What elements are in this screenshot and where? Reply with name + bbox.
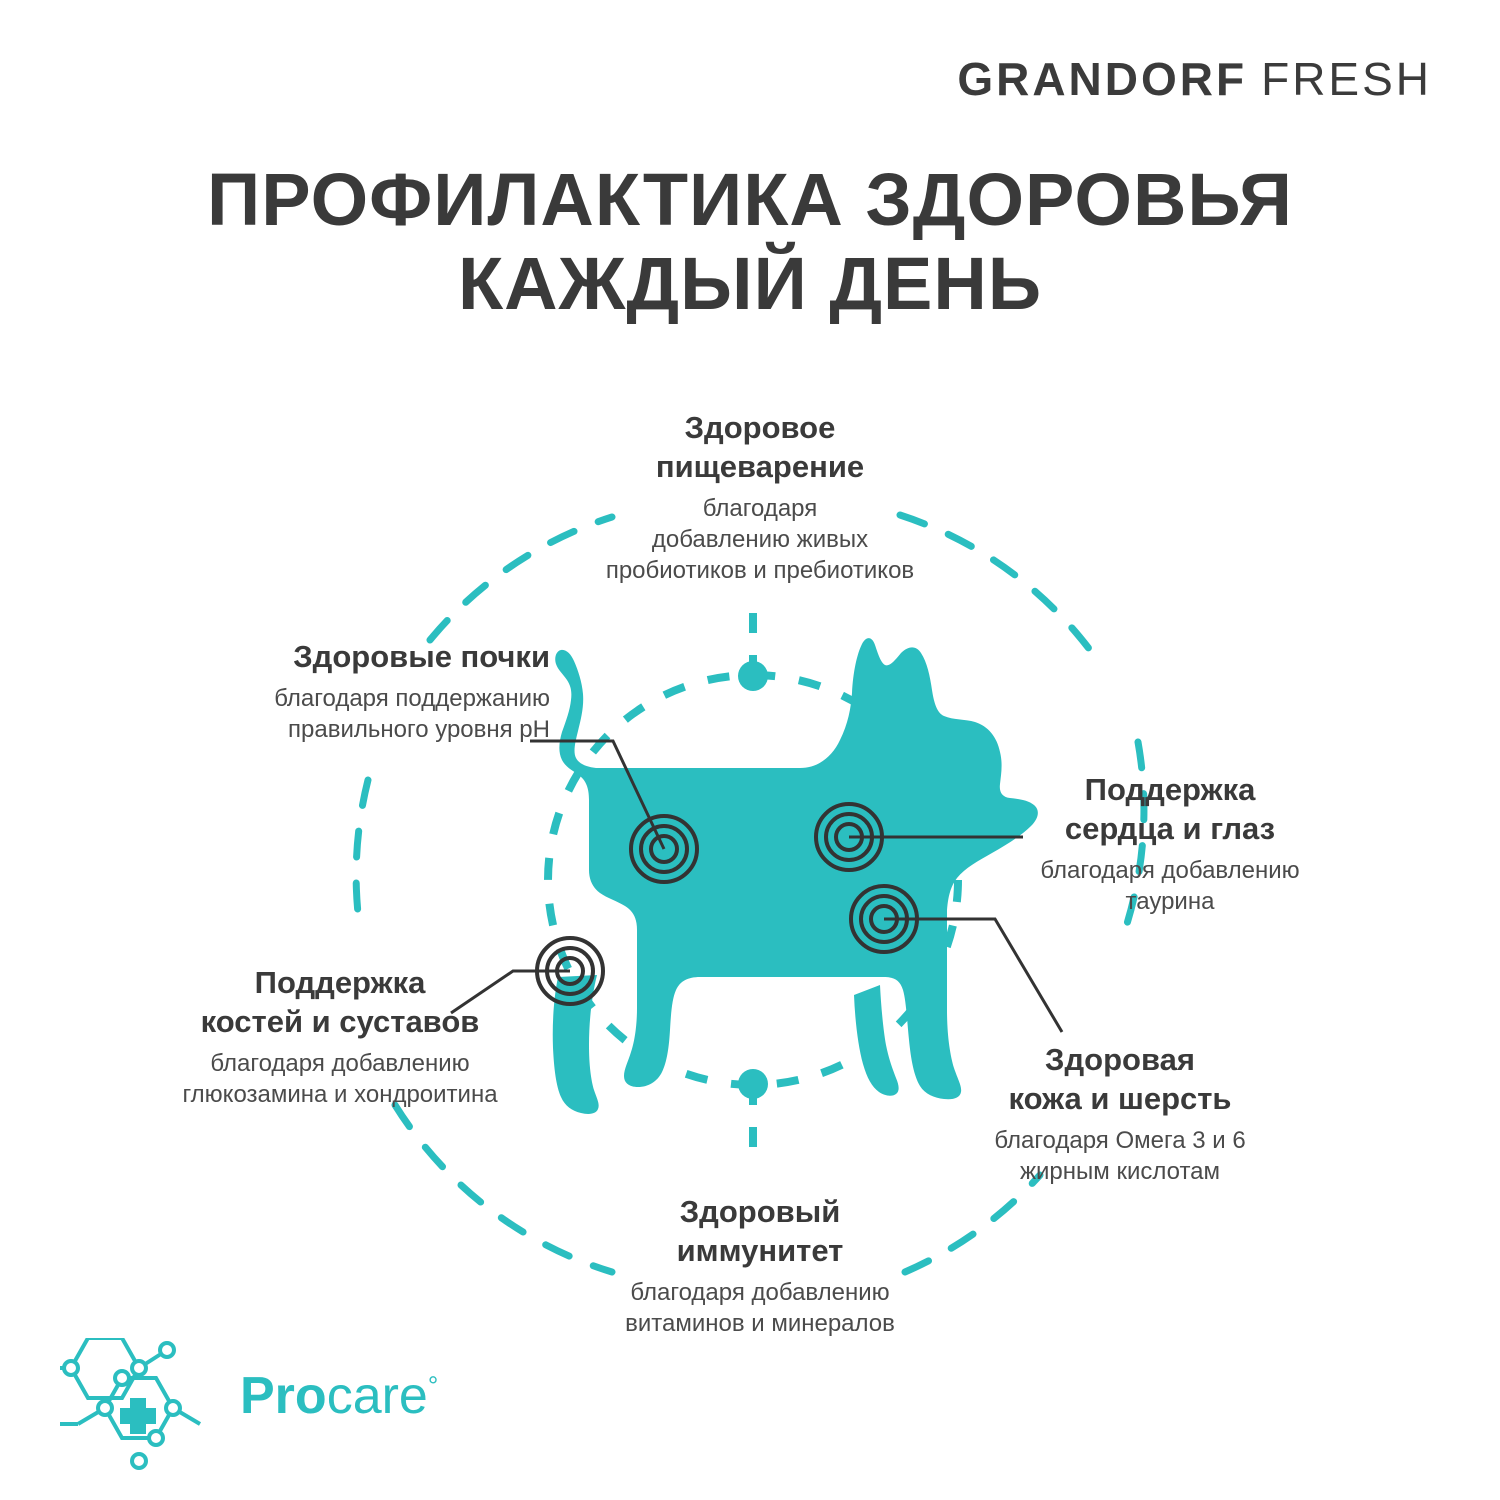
callout-kidneys-title: Здоровые почки [150, 637, 550, 676]
callout-digestion: Здоровое пищеварение благодаря добавлени… [520, 408, 1000, 586]
callout-kidneys: Здоровые почки благодаря поддержанию пра… [150, 637, 550, 745]
procare-care-text: care [327, 1367, 428, 1425]
callout-heart-subtitle: благодаря добавлению таурина [1000, 856, 1340, 917]
callout-immunity-subtitle: благодаря добавлению витаминов и минерал… [560, 1278, 960, 1339]
procare-degree-mark: ° [428, 1371, 438, 1401]
callout-heart: Поддержка сердца и глаз благодаря добавл… [1000, 770, 1340, 918]
infographic-page: GRANDORF FRESH ПРОФИЛАКТИКА ЗДОРОВЬЯ КАЖ… [0, 0, 1500, 1500]
callout-digestion-title: Здоровое пищеварение [520, 408, 1000, 486]
callout-immunity: Здоровый иммунитет благодаря добавлению … [560, 1192, 960, 1340]
callout-skin-title: Здоровая кожа и шерсть [950, 1040, 1290, 1118]
callout-immunity-title: Здоровый иммунитет [560, 1192, 960, 1270]
dog-front-far-leg [854, 985, 899, 1096]
node-dot-bottom [738, 1069, 768, 1099]
callout-skin-subtitle: благодаря Омега 3 и 6 жирным кислотам [950, 1126, 1290, 1187]
procare-pro-text: Pro [240, 1367, 327, 1425]
callout-heart-title: Поддержка сердца и глаз [1000, 770, 1340, 848]
callout-bones-subtitle: благодаря добавлению глюкозамина и хондр… [130, 1049, 550, 1110]
medical-cross-icon [120, 1398, 156, 1434]
callout-bones: Поддержка костей и суставов благодаря до… [130, 963, 550, 1111]
procare-logo: Procare° [60, 1338, 440, 1488]
callout-digestion-subtitle: благодаря добавлению живых пробиотиков и… [520, 494, 1000, 586]
callout-bones-title: Поддержка костей и суставов [130, 963, 550, 1041]
procare-molecule-nodes [64, 1343, 180, 1468]
procare-molecule-icon [60, 1338, 240, 1488]
callout-kidneys-subtitle: благодаря поддержанию правильного уровня… [150, 684, 550, 745]
callout-skin: Здоровая кожа и шерсть благодаря Омега 3… [950, 1040, 1290, 1188]
dog-body-path [555, 638, 1038, 1099]
node-dot-top [738, 661, 768, 691]
procare-wordmark: Procare° [240, 1366, 438, 1426]
